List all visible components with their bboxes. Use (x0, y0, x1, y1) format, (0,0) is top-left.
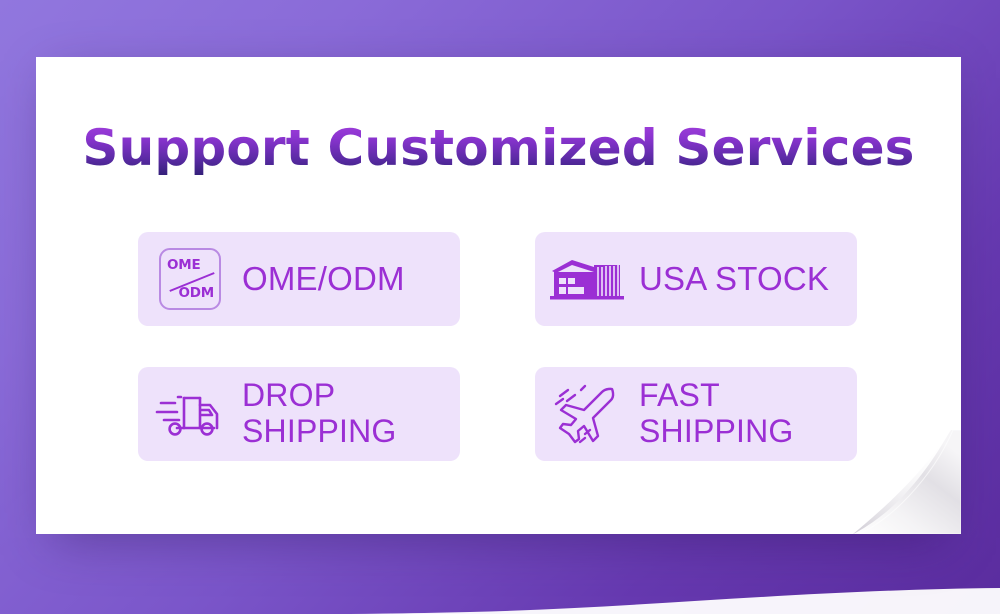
warehouse-icon (549, 248, 625, 310)
ome-odm-badge-icon: OME ODM (152, 248, 228, 310)
page-title: Support Customized Services (82, 122, 914, 175)
feature-label-drop-shipping: DROP SHIPPING (242, 378, 397, 450)
ome-badge-bottom-text: ODM (178, 285, 214, 301)
feature-label-ome-odm: OME/ODM (242, 261, 405, 298)
delivery-truck-icon (152, 383, 228, 445)
page-curl-corner-icon (853, 430, 961, 534)
feature-card-usa-stock[interactable]: USA STOCK (535, 232, 857, 326)
feature-card-ome-odm[interactable]: OME ODM OME/ODM (138, 232, 460, 326)
airplane-icon (549, 383, 625, 445)
feature-card-drop-shipping[interactable]: DROP SHIPPING (138, 367, 460, 461)
ome-badge-top-text: OME (167, 257, 201, 273)
feature-cards-grid: OME ODM OME/ODM (138, 232, 858, 461)
feature-card-fast-shipping[interactable]: FAST SHIPPING (535, 367, 857, 461)
feature-label-usa-stock: USA STOCK (639, 261, 829, 298)
feature-label-fast-shipping: FAST SHIPPING (639, 378, 794, 450)
banner-stage: Support Customized Services OME ODM OME/… (0, 0, 1000, 614)
page-title-wrapper: Support Customized Services (36, 122, 961, 175)
